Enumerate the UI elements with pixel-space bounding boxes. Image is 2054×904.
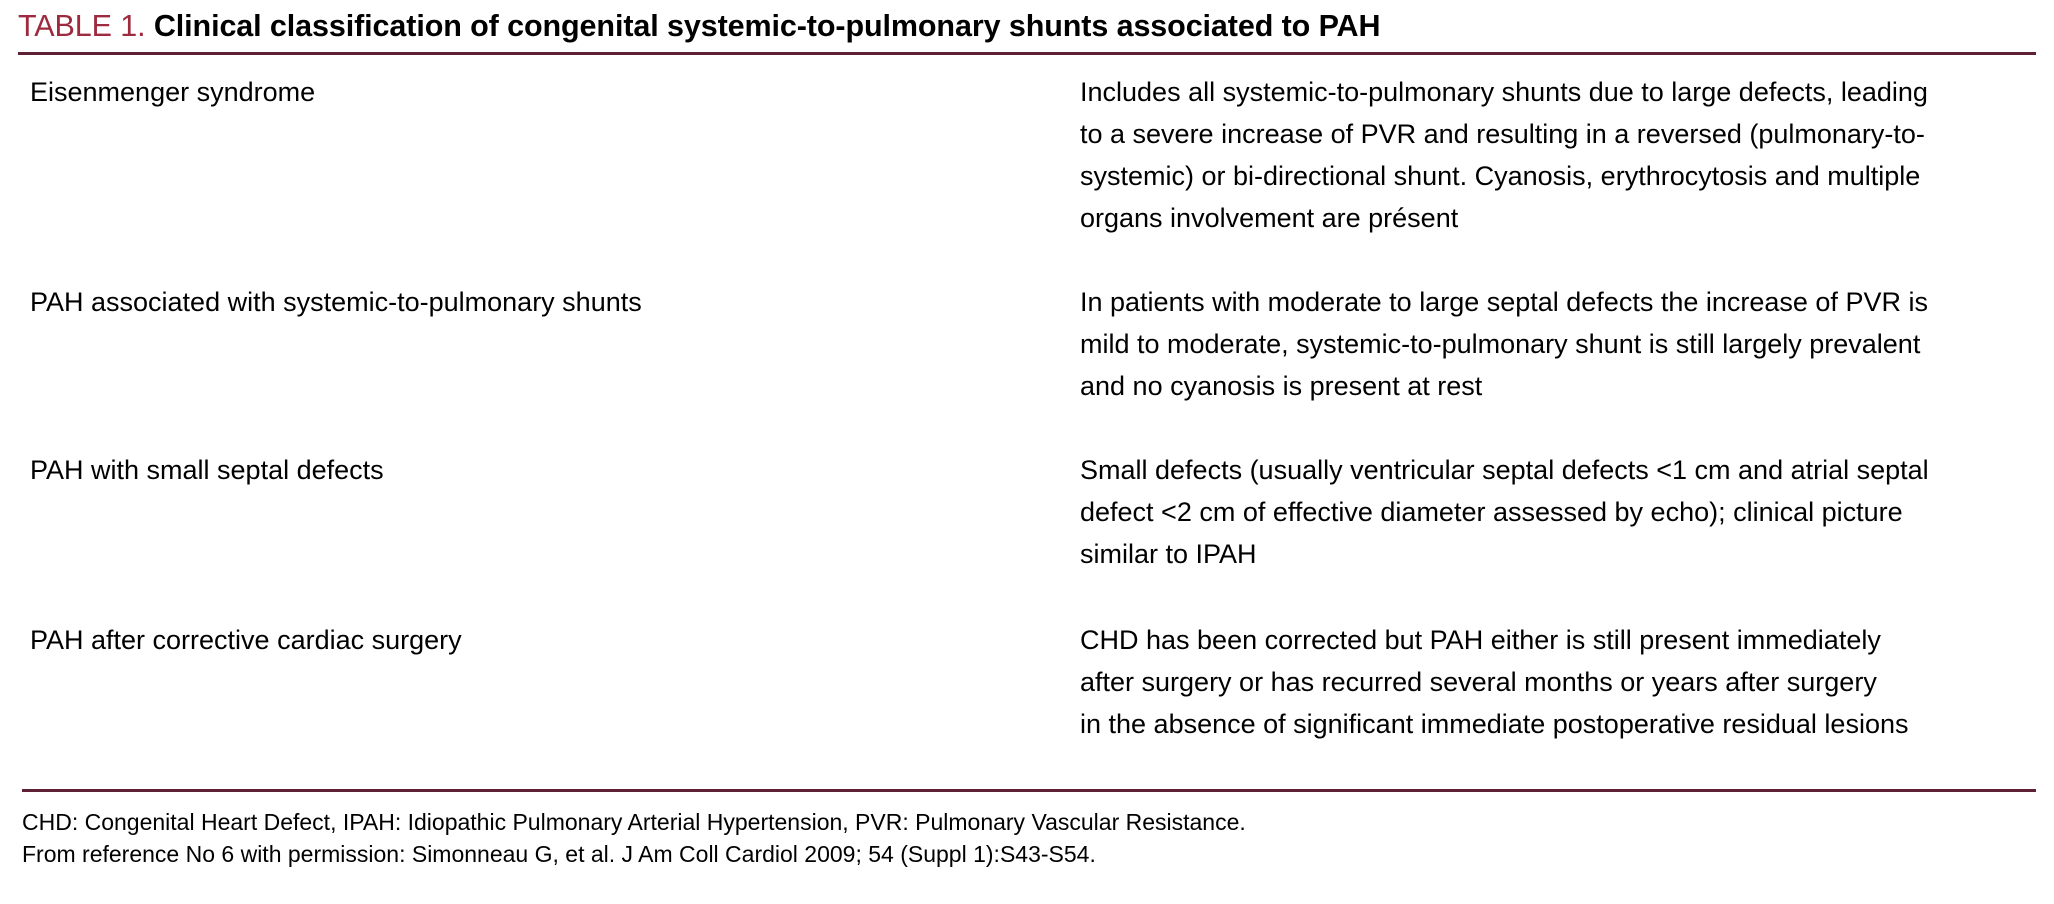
table-caption: TABLE 1. Clinical classification of cong… <box>14 0 2036 46</box>
footnote-abbreviations: CHD: Congenital Heart Defect, IPAH: Idio… <box>22 806 1246 838</box>
description-line: mild to moderate, systemic-to-pulmonary … <box>1080 323 2036 365</box>
row-category-label: PAH with small septal defects <box>18 449 1080 491</box>
row-description: Small defects (usually ventricular septa… <box>1080 449 2036 575</box>
description-line: CHD has been corrected but PAH either is… <box>1080 619 2036 661</box>
description-line: In patients with moderate to large septa… <box>1080 281 2036 323</box>
description-line: Includes all systemic-to-pulmonary shunt… <box>1080 71 2036 113</box>
footnote-source: From reference No 6 with permission: Sim… <box>22 838 1246 870</box>
table-top-rule <box>18 52 2036 55</box>
table-row: Eisenmenger syndrome Includes all system… <box>18 71 2036 239</box>
table-title: Clinical classification of congenital sy… <box>154 9 1381 43</box>
row-description: Includes all systemic-to-pulmonary shunt… <box>1080 71 2036 239</box>
table-body: Eisenmenger syndrome Includes all system… <box>14 71 2036 745</box>
description-line: systemic) or bi-directional shunt. Cyano… <box>1080 155 2036 197</box>
description-line: in the absence of significant immediate … <box>1080 703 2036 745</box>
row-category-label: Eisenmenger syndrome <box>18 71 1080 113</box>
row-description: In patients with moderate to large septa… <box>1080 281 2036 407</box>
table-number-label: TABLE 1. <box>18 9 145 43</box>
description-line: to a severe increase of PVR and resultin… <box>1080 113 2036 155</box>
table-row: PAH with small septal defects Small defe… <box>18 449 2036 575</box>
row-category-label: PAH associated with systemic-to-pulmonar… <box>18 281 1080 323</box>
table-bottom-rule <box>22 789 2036 792</box>
table-footnotes: CHD: Congenital Heart Defect, IPAH: Idio… <box>18 806 1246 870</box>
row-description: CHD has been corrected but PAH either is… <box>1080 619 2036 745</box>
description-line: and no cyanosis is present at rest <box>1080 365 2036 407</box>
description-line: after surgery or has recurred several mo… <box>1080 661 2036 703</box>
table-figure: TABLE 1. Clinical classification of cong… <box>0 0 2054 904</box>
description-line: similar to IPAH <box>1080 533 2036 575</box>
description-line: Small defects (usually ventricular septa… <box>1080 449 2036 491</box>
table-row: PAH associated with systemic-to-pulmonar… <box>18 281 2036 407</box>
row-category-label: PAH after corrective cardiac surgery <box>18 619 1080 661</box>
description-line: organs involvement are présent <box>1080 197 2036 239</box>
description-line: defect <2 cm of effective diameter asses… <box>1080 491 2036 533</box>
table-row: PAH after corrective cardiac surgery CHD… <box>18 619 2036 745</box>
